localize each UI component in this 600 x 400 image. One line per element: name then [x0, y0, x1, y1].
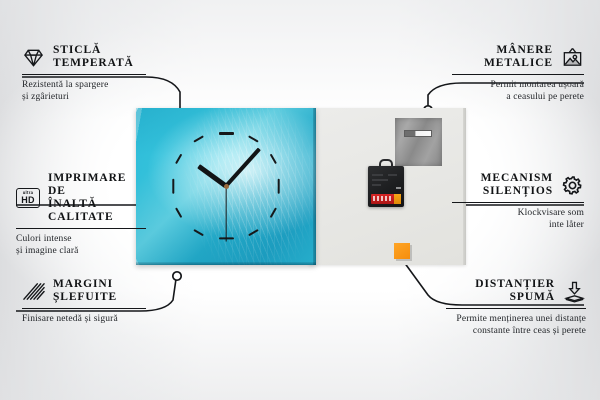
feature-header: MARGINI ȘLEFUITE [22, 278, 146, 304]
battery-label [373, 196, 393, 201]
feature-header: MECANISM SILENȚIOS [452, 172, 584, 198]
foam-spacer-icon [563, 280, 586, 303]
feature-header: DISTANȚIER SPUMĂ [446, 278, 586, 304]
feature-title: MARGINI ȘLEFUITE [53, 278, 117, 304]
feature-mecanism-silentios: MECANISM SILENȚIOS Klockvisare som inte … [452, 172, 584, 231]
clock-mechanism [368, 166, 404, 207]
gear-icon [561, 174, 584, 197]
feature-header: STICLĂ TEMPERATĂ [22, 44, 146, 70]
mechanism-hook [379, 159, 393, 168]
feature-description: Finisare netedă și sigură [22, 313, 146, 325]
product-image [136, 108, 466, 265]
feature-sticla-temperata: STICLĂ TEMPERATĂ Rezistentă la spargere … [22, 44, 146, 103]
mechanism-detail [388, 174, 397, 176]
battery [371, 194, 401, 204]
battery-terminal [394, 194, 401, 204]
second-hand [225, 186, 226, 242]
feature-header: MÂNERE METALICE [452, 44, 584, 70]
divider [16, 228, 146, 229]
feature-title: IMPRIMARE DE ÎNALTĂ CALITATE [48, 172, 146, 224]
foam-spacer [394, 243, 410, 259]
ultra-hd-icon: ultra HD [16, 188, 40, 208]
metal-hanger-plate [395, 118, 442, 166]
glass-edge-bottom [136, 262, 316, 265]
feature-title: MÂNERE METALICE [484, 44, 553, 70]
divider [22, 74, 146, 75]
mechanism-detail [372, 184, 381, 186]
divider [452, 74, 584, 75]
feature-description: Permite menținerea unei distanțe constan… [446, 313, 586, 337]
feature-description: Culori intense și imagine clară [16, 233, 146, 257]
infographic-canvas: STICLĂ TEMPERATĂ Rezistentă la spargere … [0, 0, 600, 400]
feature-description: Klockvisare som inte låter [452, 207, 584, 231]
feature-description: Permit montarea ușoară a ceasului pe per… [452, 79, 584, 103]
polished-edges-icon [22, 280, 45, 303]
feature-distantier-spuma: DISTANȚIER SPUMĂ Permite menținerea unei… [446, 278, 586, 337]
diamond-icon [22, 46, 45, 69]
feature-title: MECANISM SILENȚIOS [481, 172, 553, 198]
divider [22, 308, 146, 309]
hanger-slot [404, 130, 432, 137]
divider [452, 202, 584, 203]
divider [446, 308, 586, 309]
feature-margini-slefuite: MARGINI ȘLEFUITE Finisare netedă și sigu… [22, 278, 146, 325]
clock-tick [277, 178, 279, 193]
clock-pivot [224, 184, 229, 189]
feature-title: DISTANȚIER SPUMĂ [475, 278, 555, 304]
glass-edge-right [313, 108, 316, 265]
feature-title: STICLĂ TEMPERATĂ [53, 44, 134, 70]
feature-manere-metalice: MÂNERE METALICE Permit montarea ușoară a… [452, 44, 584, 103]
mechanism-detail [372, 174, 383, 176]
ultra-hd-main-text: HD [21, 196, 35, 205]
picture-hanger-icon [561, 46, 584, 69]
mechanism-detail [372, 179, 388, 181]
feature-description: Rezistentă la spargere și zgârieturi [22, 79, 146, 103]
feature-header: ultra HD IMPRIMARE DE ÎNALTĂ CALITATE [16, 172, 146, 224]
clock-face-panel [136, 108, 316, 265]
feature-imprimare-inalta-calitate: ultra HD IMPRIMARE DE ÎNALTĂ CALITATE Cu… [16, 172, 146, 257]
mechanism-detail [396, 187, 401, 189]
